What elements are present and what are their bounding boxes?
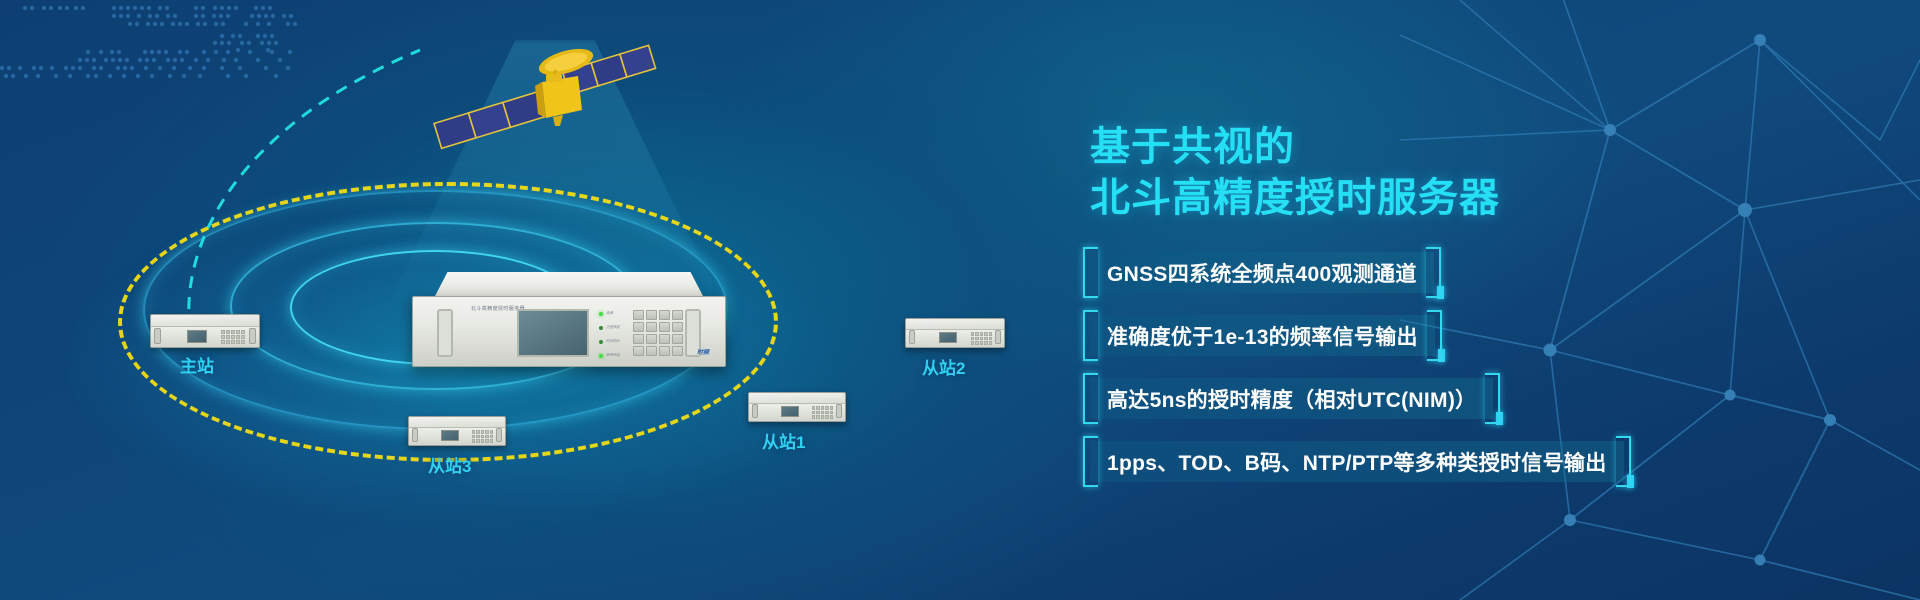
server-keypad[interactable]: [633, 310, 683, 356]
feature-label: GNSS四系统全频点400观测通道: [1107, 258, 1417, 288]
product-banner: 北斗高精度授时服务器 电源 卫星锁定 时间同步 频率锁定 时频: [0, 0, 1920, 600]
led-row: 时间同步: [599, 339, 620, 344]
feature-item-timing-accuracy: 高达5ns的授时精度（相对UTC(NIM)）: [1090, 378, 1493, 419]
server-vendor-logo: 时频: [697, 347, 709, 356]
station-label-slave3: 从站3: [428, 452, 471, 477]
rack-handle-left: [437, 309, 453, 357]
common-view-topology-diagram: 北斗高精度授时服务器 电源 卫星锁定 时间同步 频率锁定 时频: [0, 0, 900, 600]
station-device-slave1: [748, 392, 846, 422]
feature-item-output-signals: 1pps、TOD、B码、NTP/PTP等多种类授时信号输出: [1090, 441, 1624, 482]
banner-title-line-1: 基于共视的: [1090, 122, 1790, 173]
station-device-slave3: [408, 416, 506, 446]
feature-label: 高达5ns的授时精度（相对UTC(NIM)）: [1107, 384, 1476, 414]
banner-content-column: 基于共视的 北斗高精度授时服务器 GNSS四系统全频点400观测通道 准确度优于…: [1090, 0, 1790, 600]
station-device-master: [150, 314, 260, 348]
feature-list: GNSS四系统全频点400观测通道 准确度优于1e-13的频率信号输出 高达5n…: [1090, 252, 1790, 482]
led-row: 频率锁定: [599, 353, 620, 358]
feature-corner-bar: [1437, 286, 1444, 299]
main-timing-server: 北斗高精度授时服务器 电源 卫星锁定 时间同步 频率锁定 时频: [412, 272, 726, 367]
feature-label: 1pps、TOD、B码、NTP/PTP等多种类授时信号输出: [1107, 447, 1607, 477]
feature-corner-bar: [1496, 412, 1503, 425]
feature-item-gnss-channels: GNSS四系统全频点400观测通道: [1090, 252, 1434, 293]
feature-label: 准确度优于1e-13的频率信号输出: [1107, 321, 1418, 351]
banner-title: 基于共视的 北斗高精度授时服务器: [1090, 122, 1790, 224]
banner-title-line-2: 北斗高精度授时服务器: [1090, 173, 1790, 224]
station-device-slave2: [905, 318, 1005, 348]
station-label-slave1: 从站1: [762, 428, 805, 453]
led-row: 电源: [599, 311, 620, 316]
feature-corner-bar: [1438, 349, 1445, 362]
feature-corner-bar: [1627, 475, 1634, 488]
station-label-master: 主站: [180, 352, 214, 377]
server-front-panel: 北斗高精度授时服务器 电源 卫星锁定 时间同步 频率锁定 时频: [412, 296, 726, 367]
beidou-satellite-icon: [420, 38, 670, 158]
feature-item-frequency-accuracy: 准确度优于1e-13的频率信号输出: [1090, 315, 1435, 356]
server-lcd-screen: [517, 309, 589, 357]
led-row: 卫星锁定: [599, 325, 620, 330]
station-label-slave2: 从站2: [922, 354, 965, 379]
server-top-panel: [434, 272, 704, 298]
server-status-leds: 电源 卫星锁定 时间同步 频率锁定: [599, 311, 620, 358]
